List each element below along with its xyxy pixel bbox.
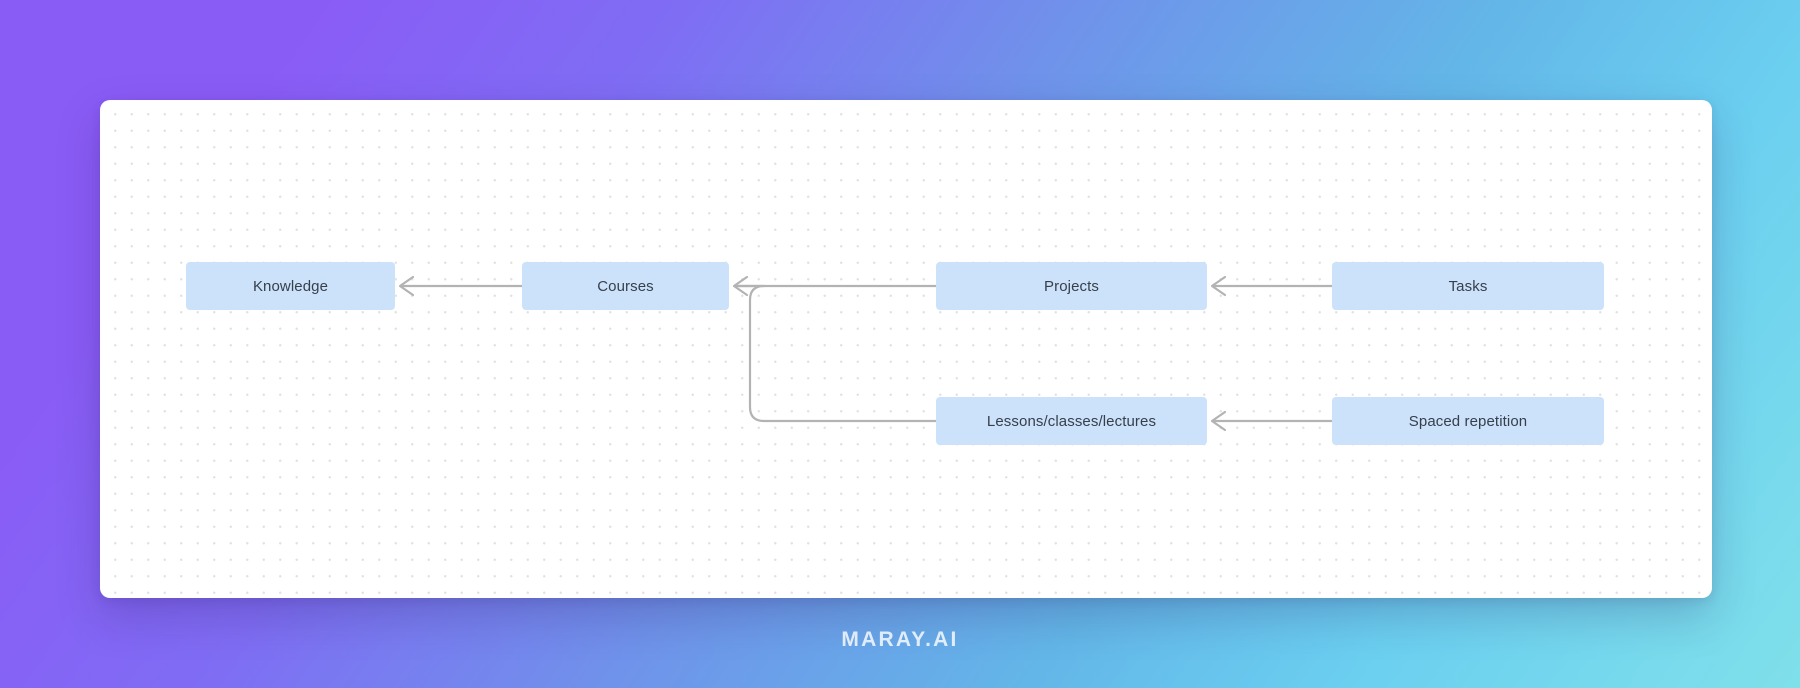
edge-spaced-repetition-to-lessons xyxy=(1212,412,1332,430)
node-spaced-repetition[interactable]: Spaced repetition xyxy=(1332,397,1604,445)
node-courses[interactable]: Courses xyxy=(522,262,729,310)
edge-lessons-to-courses xyxy=(736,286,936,421)
connector-layer xyxy=(100,100,1712,598)
node-lessons-classes-lectures[interactable]: Lessons/classes/lectures xyxy=(936,397,1207,445)
node-projects[interactable]: Projects xyxy=(936,262,1207,310)
gradient-background: Knowledge Courses Projects Tasks Lessons… xyxy=(0,0,1800,688)
node-spaced-repetition-label: Spaced repetition xyxy=(1409,414,1527,429)
node-knowledge-label: Knowledge xyxy=(253,279,328,294)
diagram-canvas-card: Knowledge Courses Projects Tasks Lessons… xyxy=(100,100,1712,598)
brand-wordmark: MARAY.AI xyxy=(0,628,1800,652)
node-lessons-label: Lessons/classes/lectures xyxy=(987,414,1156,429)
node-tasks[interactable]: Tasks xyxy=(1332,262,1604,310)
node-courses-label: Courses xyxy=(597,279,654,294)
node-projects-label: Projects xyxy=(1044,279,1099,294)
edge-courses-to-knowledge xyxy=(400,277,522,295)
node-knowledge[interactable]: Knowledge xyxy=(186,262,395,310)
edge-projects-to-courses xyxy=(734,277,936,295)
edge-tasks-to-projects xyxy=(1212,277,1332,295)
node-tasks-label: Tasks xyxy=(1449,279,1488,294)
dot-grid-background xyxy=(100,100,1712,598)
